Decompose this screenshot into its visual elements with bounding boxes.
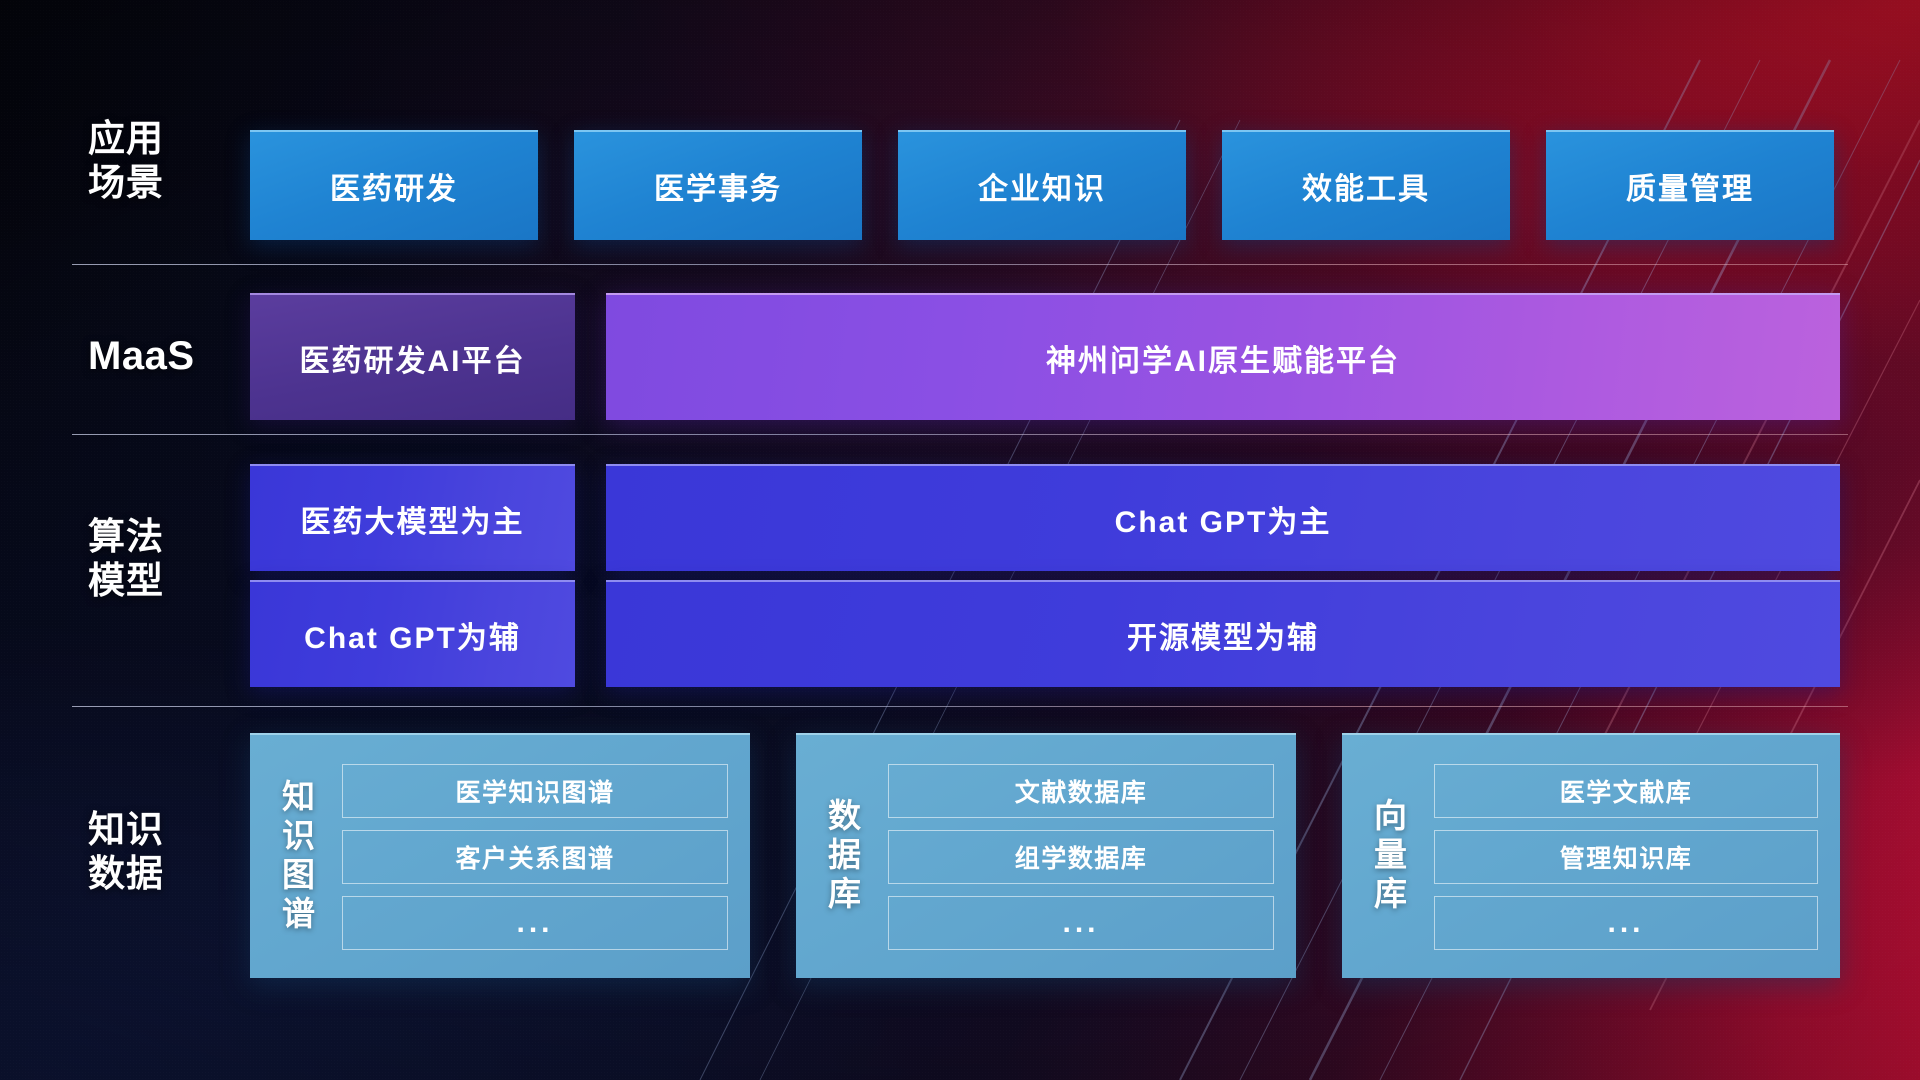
knowledge-item-yixue-zhishitupu[interactable]: 医学知识图谱 (342, 764, 728, 818)
knowledge-panel-shujuku: 数据库 文献数据库 组学数据库 ... (796, 733, 1296, 978)
maas-box-shenzhouwenxue-platform[interactable]: 神州问学AI原生赋能平台 (606, 293, 1840, 420)
tier-label-application: 应用 场景 (88, 117, 238, 204)
divider-maas-algorithm (72, 434, 1848, 435)
algo-box-yiyao-damoxing-weizhu[interactable]: 医药大模型为主 (250, 464, 575, 571)
knowledge-panel-label-xiangliangku: 向量库 (1342, 735, 1434, 978)
maas-box-yiyaoyanfa-ai-pingtai[interactable]: 医药研发AI平台 (250, 293, 575, 420)
knowledge-item-zuxue-shujuku[interactable]: 组学数据库 (888, 830, 1274, 884)
tier-label-algorithm: 算法 模型 (88, 515, 238, 602)
knowledge-panel-label-shujuku: 数据库 (796, 735, 888, 978)
tier-label-maas-line1: MaaS (88, 333, 238, 380)
application-scenario-track: 医药研发 医学事务 企业知识 效能工具 质量管理 (250, 130, 1834, 240)
knowledge-item-wenxian-shujuku[interactable]: 文献数据库 (888, 764, 1274, 818)
knowledge-item-list-zhishitupu: 医学知识图谱 客户关系图谱 ... (342, 735, 750, 978)
app-box-xiaonenggongju[interactable]: 效能工具 (1222, 130, 1510, 240)
tier-label-algorithm-line2: 模型 (88, 559, 238, 603)
knowledge-item-more-shujuku[interactable]: ... (888, 896, 1274, 950)
knowledge-item-list-shujuku: 文献数据库 组学数据库 ... (888, 735, 1296, 978)
algo-box-chatgpt-weizhu[interactable]: Chat GPT为主 (606, 464, 1840, 571)
app-box-qiyezhishi[interactable]: 企业知识 (898, 130, 1186, 240)
tier-label-maas: MaaS (88, 333, 238, 380)
knowledge-panel-zhishitupu: 知识图谱 医学知识图谱 客户关系图谱 ... (250, 733, 750, 978)
app-box-yixueshiwu[interactable]: 医学事务 (574, 130, 862, 240)
tier-label-knowledge: 知识 数据 (88, 808, 238, 895)
knowledge-item-guanli-zhishiku[interactable]: 管理知识库 (1434, 830, 1818, 884)
knowledge-item-list-xiangliangku: 医学文献库 管理知识库 ... (1434, 735, 1840, 978)
tier-label-knowledge-line1: 知识 (88, 808, 238, 852)
algo-box-chatgpt-weifu[interactable]: Chat GPT为辅 (250, 580, 575, 687)
knowledge-panel-xiangliangku: 向量库 医学文献库 管理知识库 ... (1342, 733, 1840, 978)
tier-label-application-line2: 场景 (88, 161, 238, 205)
app-box-zhiliangguanli[interactable]: 质量管理 (1546, 130, 1834, 240)
tier-label-knowledge-line2: 数据 (88, 852, 238, 896)
divider-algorithm-knowledge (72, 706, 1848, 707)
knowledge-panel-label-zhishitupu: 知识图谱 (250, 735, 342, 978)
architecture-diagram: 应用 场景 医药研发 医学事务 企业知识 效能工具 质量管理 MaaS 医药研发… (0, 0, 1920, 1080)
divider-application-maas (72, 264, 1848, 265)
tier-label-application-line1: 应用 (88, 117, 238, 161)
knowledge-item-more-zhishitupu[interactable]: ... (342, 896, 728, 950)
knowledge-item-more-xiangliangku[interactable]: ... (1434, 896, 1818, 950)
app-box-yiyaoyanfa[interactable]: 医药研发 (250, 130, 538, 240)
algo-box-kaiyuan-moxing-weifu[interactable]: 开源模型为辅 (606, 580, 1840, 687)
knowledge-item-yixue-wenxianku[interactable]: 医学文献库 (1434, 764, 1818, 818)
tier-label-algorithm-line1: 算法 (88, 515, 238, 559)
knowledge-item-kehuguanxi-tupu[interactable]: 客户关系图谱 (342, 830, 728, 884)
